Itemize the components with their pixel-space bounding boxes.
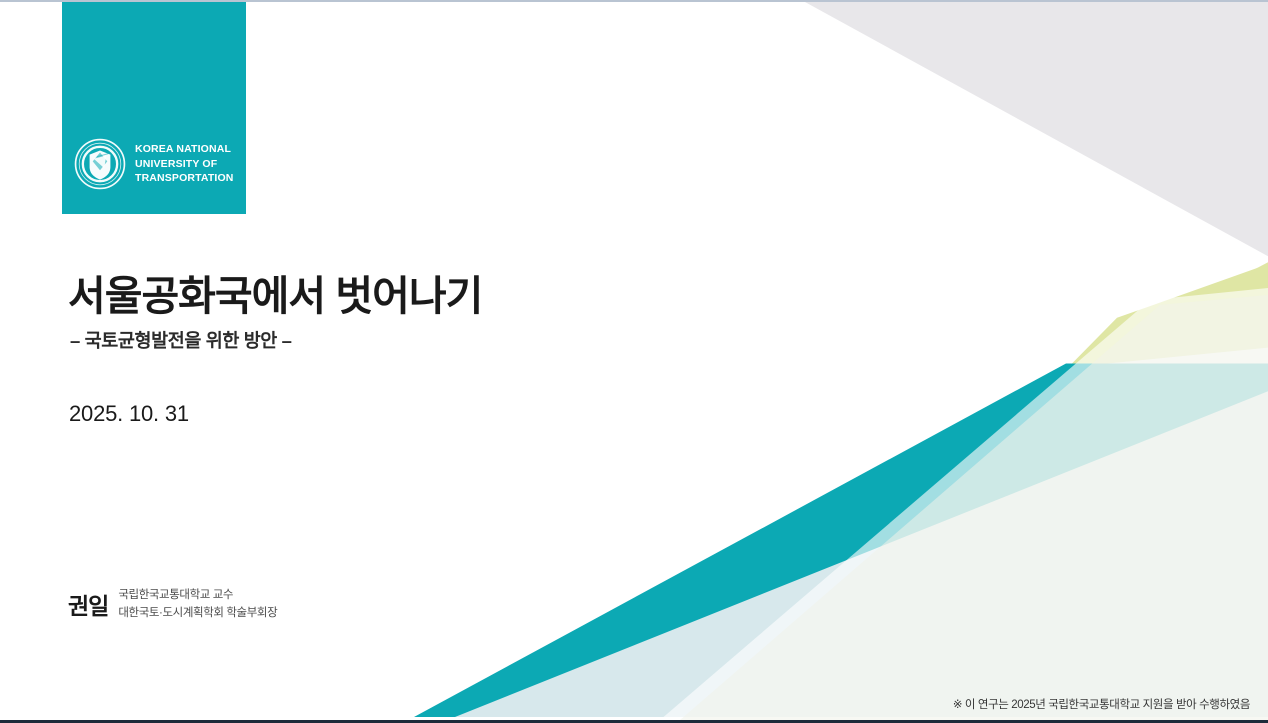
logo-line-1: KOREA NATIONAL [135, 142, 234, 156]
logo-lockup: KOREA NATIONAL UNIVERSITY OF TRANSPORTAT… [74, 138, 234, 190]
page-title: 서울공화국에서 벗어나기 [68, 272, 482, 320]
title-text-group: 서울공화국에서 벗어나기 – 국토균형발전을 위한 방안 – 2025. 10.… [68, 272, 482, 427]
gray-triangle-shape [805, 2, 1268, 256]
university-emblem-icon [74, 138, 126, 190]
author-name: 권일 [68, 587, 108, 621]
author-affiliation-line-2: 대한국토·도시계획학회 학술부회장 [118, 605, 277, 623]
cream-tint-shape [680, 295, 1268, 720]
logo-line-3: TRANSPORTATION [135, 171, 234, 185]
title-slide: KOREA NATIONAL UNIVERSITY OF TRANSPORTAT… [0, 0, 1268, 723]
author-block: 권일 국립한국교통대학교 교수 대한국토·도시계획학회 학술부회장 [68, 585, 277, 623]
presentation-date: 2025. 10. 31 [69, 401, 482, 427]
logo-line-2: UNIVERSITY OF [135, 157, 234, 171]
yellow-green-band-fill [1068, 262, 1268, 367]
cream-overlay-shape [660, 288, 1268, 720]
funding-footnote: ※ 이 연구는 2025년 국립한국교통대학교 지원을 받아 수행하였음 [953, 696, 1250, 712]
yellow-green-band-shape [1070, 264, 1268, 365]
teal-diagonal-band-shape [414, 363, 1268, 717]
author-affiliation-line-1: 국립한국교통대학교 교수 [118, 587, 277, 605]
light-blue-region-shape [422, 369, 1268, 717]
logo-wordmark: KOREA NATIONAL UNIVERSITY OF TRANSPORTAT… [135, 142, 234, 185]
light-blue-sliver-shape [455, 391, 1268, 717]
author-affiliation: 국립한국교통대학교 교수 대한국토·도시계획학회 학술부회장 [118, 585, 277, 623]
university-logo-block: KOREA NATIONAL UNIVERSITY OF TRANSPORTAT… [62, 2, 246, 214]
page-subtitle: – 국토균형발전을 위한 방안 – [70, 327, 482, 353]
